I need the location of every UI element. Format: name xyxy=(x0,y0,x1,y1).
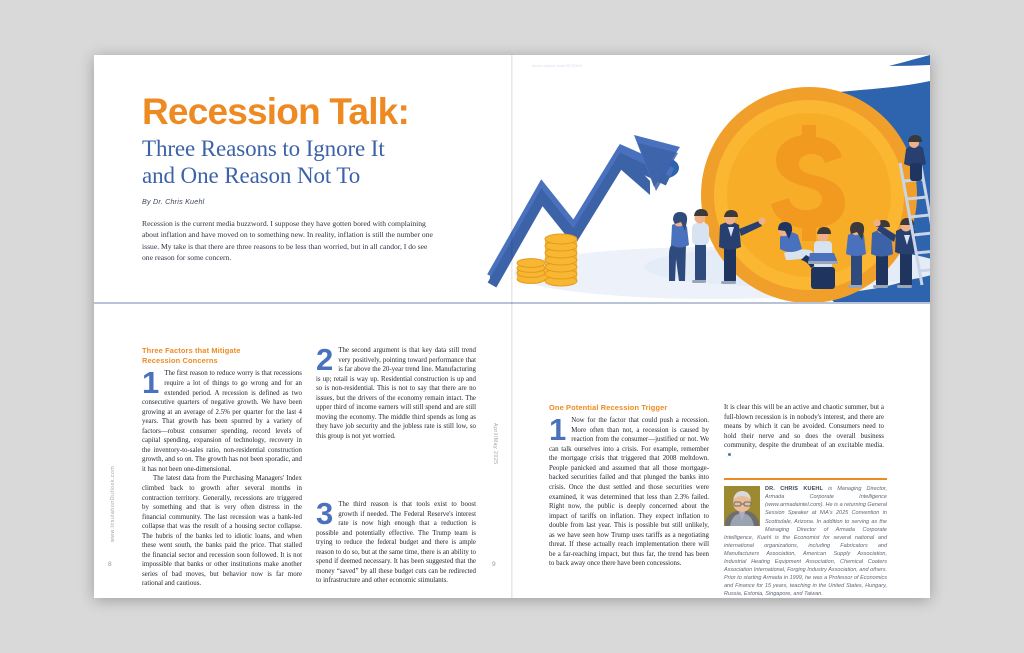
spread-gutter xyxy=(511,55,513,598)
author-portrait-svg xyxy=(724,486,760,526)
column-5: It is clear this will be an active and c… xyxy=(724,403,884,460)
page-subtitle: Three Reasons to Ignore It and One Reaso… xyxy=(142,135,385,189)
end-mark-icon xyxy=(727,452,732,457)
drop-number-1: 1 xyxy=(142,370,159,395)
article-deck: Recession is the current media buzzword.… xyxy=(142,218,438,264)
paragraph-1-1: 1 The first reason to reduce worry is th… xyxy=(142,369,302,474)
coin-stack-small xyxy=(517,259,545,284)
magazine-spread: stock.adobe.com/2070305 Recession Talk: … xyxy=(94,55,930,598)
paragraph-4-1: 1 Now for the factor that could push a r… xyxy=(549,416,709,569)
author-bio-box: DR. CHRIS KUEHL is Managing Director, Ar… xyxy=(724,478,887,599)
paragraph-4-1-text: Now for the factor that could push a rec… xyxy=(549,417,709,567)
section-kicker-trigger: One Potential Recession Trigger xyxy=(549,403,709,413)
bio-divider xyxy=(724,478,887,480)
page-number-right: 9 xyxy=(492,561,496,568)
coin-stack-tall xyxy=(545,234,577,286)
paragraph-5-1: It is clear this will be an active and c… xyxy=(724,403,884,460)
column-1: Three Factors that Mitigate Recession Co… xyxy=(142,346,302,589)
paragraph-3-1-text: The third reason is that tools exist to … xyxy=(316,501,476,584)
column-2: 2 The second argument is that key data s… xyxy=(316,346,476,441)
byline: By Dr. Chris Kuehl xyxy=(142,197,204,206)
website-vertical-text: www.InsulationOutlook.com xyxy=(110,466,116,542)
issue-date-vertical-text: April/May 2025 xyxy=(492,423,498,465)
author-name: DR. CHRIS KUEHL xyxy=(765,486,823,492)
column-4: One Potential Recession Trigger 1 Now fo… xyxy=(549,403,709,569)
paragraph-1-2: The latest data from the Purchasing Mana… xyxy=(142,474,302,589)
page-title: Recession Talk: xyxy=(142,92,409,132)
image-credit: stock.adobe.com/2070305 xyxy=(532,64,582,68)
kicker-trigger-line-1: One Potential Recession Trigger xyxy=(549,403,709,413)
author-photo xyxy=(724,486,760,526)
drop-number-2: 2 xyxy=(316,347,333,372)
paragraph-5-1-text: It is clear this will be an active and c… xyxy=(724,404,884,449)
page-subtitle-line2: and One Reason Not To xyxy=(142,162,385,189)
page-number-left: 8 xyxy=(108,561,112,568)
kicker-line-2: Recession Concerns xyxy=(142,356,302,366)
section-kicker-mitigate: Three Factors that Mitigate Recession Co… xyxy=(142,346,302,366)
page-subtitle-line1: Three Reasons to Ignore It xyxy=(142,135,385,162)
paragraph-1-1-text: The first reason to reduce worry is that… xyxy=(142,370,302,472)
column-3: 3 The third reason is that tools exist t… xyxy=(316,500,476,586)
kicker-line-1: Three Factors that Mitigate xyxy=(142,346,302,356)
drop-number-3: 3 xyxy=(316,501,333,526)
paragraph-2-1: 2 The second argument is that key data s… xyxy=(316,346,476,441)
drop-number-trigger: 1 xyxy=(549,417,566,442)
paragraph-3-1: 3 The third reason is that tools exist t… xyxy=(316,500,476,586)
paragraph-2-1-text: The second argument is that key data sti… xyxy=(316,347,476,440)
